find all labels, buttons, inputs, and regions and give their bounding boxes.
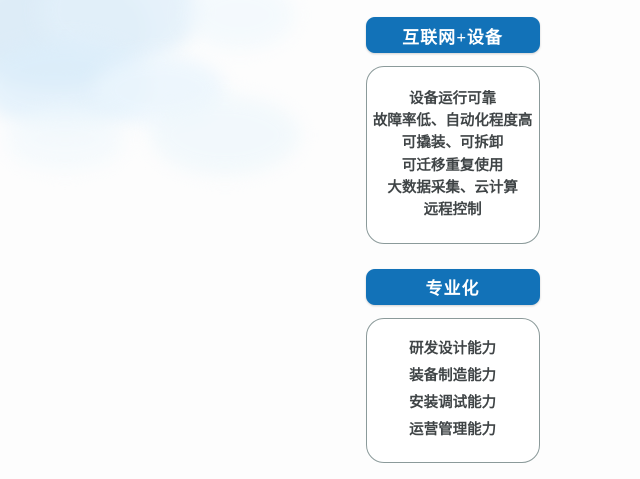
panel-header-specialization[interactable]: 专业化 — [366, 269, 540, 305]
panel-line: 运营管理能力 — [409, 417, 496, 444]
panel-line: 设备运行可靠 — [409, 88, 496, 110]
panel-line: 研发设计能力 — [409, 336, 496, 363]
panel-line: 远程控制 — [424, 199, 482, 221]
panel-internet-equipment: 互联网+设备 设备运行可靠 故障率低、自动化程度高 可撬装、可拆卸 可迁移重复使… — [366, 17, 540, 247]
panel-line: 可撬装、可拆卸 — [402, 133, 504, 155]
panel-line: 可迁移重复使用 — [402, 155, 504, 177]
panel-body-internet-equipment: 设备运行可靠 故障率低、自动化程度高 可撬装、可拆卸 可迁移重复使用 大数据采集… — [366, 66, 540, 244]
panel-line: 装备制造能力 — [409, 363, 496, 390]
panel-line: 大数据采集、云计算 — [388, 177, 519, 199]
panel-specialization: 专业化 研发设计能力 装备制造能力 安装调试能力 运营管理能力 — [366, 269, 540, 466]
panel-line: 安装调试能力 — [409, 390, 496, 417]
column-gap — [61, 17, 263, 465]
panel-header-internet-equipment[interactable]: 互联网+设备 — [366, 17, 540, 53]
panel-body-specialization: 研发设计能力 装备制造能力 安装调试能力 运营管理能力 — [366, 318, 540, 463]
panel-line: 故障率低、自动化程度高 — [373, 111, 533, 133]
capability-panel-grid: 互联网+设备 设备运行可靠 故障率低、自动化程度高 可撬装、可拆卸 可迁移重复使… — [0, 0, 640, 479]
